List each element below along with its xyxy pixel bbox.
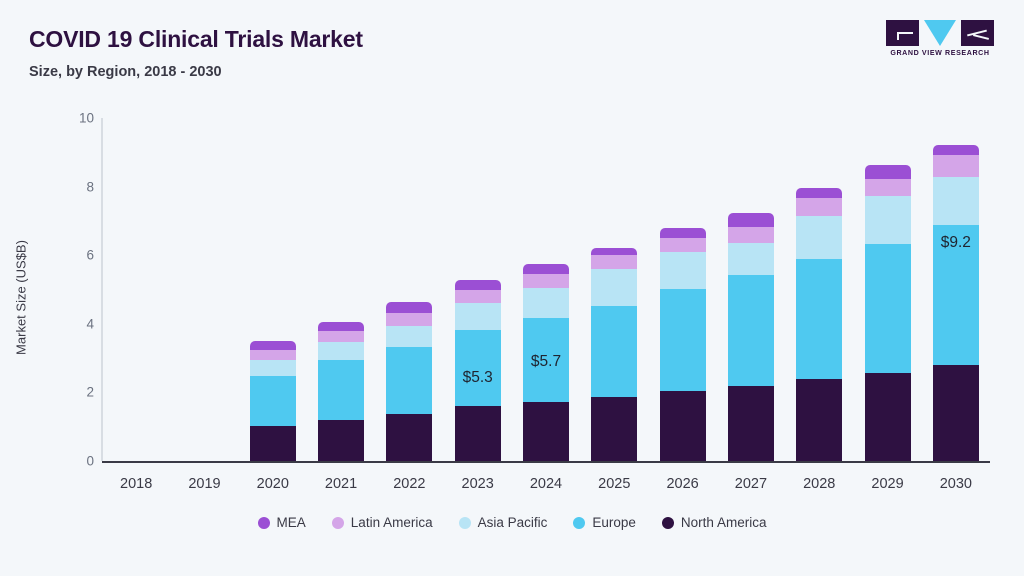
- bar-group[interactable]: [250, 342, 296, 461]
- x-tick-label: 2019: [188, 476, 220, 492]
- grand-view-research-logo: GRAND VIEW RESEARCH: [886, 20, 994, 62]
- legend-swatch-icon: [332, 517, 344, 529]
- x-tick-label: 2024: [530, 476, 562, 492]
- bar-segment-asia-pacific[interactable]: [250, 360, 296, 376]
- bar-group[interactable]: [318, 322, 364, 461]
- y-tick-label: 2: [58, 385, 94, 400]
- bar-segment-north-america[interactable]: [386, 413, 432, 461]
- y-axis-ticks: 0246810: [50, 0, 94, 576]
- logo-notch-d-icon: [973, 34, 989, 40]
- x-tick-label: 2021: [325, 476, 357, 492]
- y-tick-label: 10: [58, 111, 94, 126]
- bar-segment-europe[interactable]: [660, 289, 706, 391]
- bar-segment-latin-america[interactable]: [591, 255, 637, 270]
- bar-value-label: $5.3: [433, 369, 523, 387]
- bar-value-label: $9.2: [911, 234, 1001, 252]
- bar-segment-latin-america[interactable]: [318, 330, 364, 342]
- legend-swatch-icon: [573, 517, 585, 529]
- x-tick-label: 2020: [257, 476, 289, 492]
- x-axis-line: [102, 461, 990, 463]
- bar-segment-north-america[interactable]: [591, 396, 637, 461]
- bar-segment-asia-pacific[interactable]: [660, 252, 706, 290]
- bar-segment-north-america[interactable]: [728, 385, 774, 461]
- bar-segment-north-america[interactable]: [318, 419, 364, 461]
- bar-segment-north-america[interactable]: [796, 378, 842, 461]
- bar-segment-latin-america[interactable]: [728, 226, 774, 242]
- bar-group[interactable]: [386, 303, 432, 461]
- bar-group[interactable]: [865, 166, 911, 461]
- bar-segment-europe[interactable]: [455, 329, 501, 406]
- bar-segment-europe[interactable]: [865, 243, 911, 373]
- bar-segment-latin-america[interactable]: [523, 273, 569, 288]
- logo-notch-b-icon: [897, 32, 899, 40]
- legend-label: MEA: [277, 515, 306, 530]
- x-tick-label: 2022: [393, 476, 425, 492]
- bar-segment-asia-pacific[interactable]: [865, 195, 911, 243]
- bar-segment-asia-pacific[interactable]: [318, 341, 364, 360]
- x-tick-label: 2029: [871, 476, 903, 492]
- bar-segment-latin-america[interactable]: [865, 178, 911, 196]
- bar-segment-mea[interactable]: [591, 248, 637, 255]
- bar-segment-europe[interactable]: [250, 375, 296, 426]
- bar-segment-latin-america[interactable]: [660, 237, 706, 252]
- bar-segment-europe[interactable]: [591, 306, 637, 397]
- bar-segment-north-america[interactable]: [250, 425, 296, 461]
- bar-group[interactable]: [591, 248, 637, 461]
- y-tick-label: 8: [58, 179, 94, 194]
- y-tick-label: 4: [58, 316, 94, 331]
- bar-segment-mea[interactable]: [455, 280, 501, 291]
- x-tick-label: 2026: [666, 476, 698, 492]
- bar-segment-mea[interactable]: [660, 228, 706, 239]
- bar-segment-mea[interactable]: [728, 213, 774, 227]
- bar-group[interactable]: [933, 145, 979, 461]
- bar-segment-europe[interactable]: [796, 258, 842, 379]
- x-tick-label: 2028: [803, 476, 835, 492]
- bar-segment-europe[interactable]: [728, 274, 774, 385]
- bar-segment-north-america[interactable]: [523, 402, 569, 461]
- logo-block-right-icon: [961, 20, 994, 46]
- bar-segment-asia-pacific[interactable]: [386, 325, 432, 347]
- chart-legend: MEALatin AmericaAsia PacificEuropeNorth …: [0, 515, 1024, 530]
- bar-segment-asia-pacific[interactable]: [796, 215, 842, 258]
- bar-segment-asia-pacific[interactable]: [728, 242, 774, 275]
- legend-item[interactable]: Asia Pacific: [459, 515, 548, 530]
- bar-segment-mea[interactable]: [796, 188, 842, 197]
- legend-label: Europe: [592, 515, 636, 530]
- bar-group[interactable]: [660, 228, 706, 461]
- bar-segment-north-america[interactable]: [865, 372, 911, 461]
- bar-segment-north-america[interactable]: [933, 364, 979, 461]
- bar-segment-latin-america[interactable]: [455, 290, 501, 303]
- bar-segment-north-america[interactable]: [660, 390, 706, 461]
- bar-segment-mea[interactable]: [318, 322, 364, 332]
- x-tick-label: 2030: [940, 476, 972, 492]
- y-tick-label: 6: [58, 248, 94, 263]
- plot-area: $5.3$5.7$9.2: [102, 118, 990, 461]
- bar-segment-latin-america[interactable]: [796, 197, 842, 216]
- logo-block-left-icon: [886, 20, 919, 46]
- legend-label: North America: [681, 515, 767, 530]
- logo-notch-a-icon: [897, 32, 913, 34]
- legend-swatch-icon: [258, 517, 270, 529]
- bar-segment-europe[interactable]: [386, 347, 432, 414]
- logo-text: GRAND VIEW RESEARCH: [886, 49, 994, 57]
- bar-segment-latin-america[interactable]: [933, 154, 979, 177]
- bar-segment-north-america[interactable]: [455, 406, 501, 461]
- legend-item[interactable]: Europe: [573, 515, 636, 530]
- bar-value-label: $5.7: [501, 353, 591, 371]
- bar-segment-latin-america[interactable]: [386, 313, 432, 326]
- logo-triangle-icon: [924, 20, 956, 46]
- bar-group[interactable]: [728, 214, 774, 461]
- bar-segment-mea[interactable]: [523, 264, 569, 275]
- x-axis-ticks: 2018201920202021202220232024202520262027…: [102, 476, 990, 498]
- x-tick-label: 2025: [598, 476, 630, 492]
- y-axis-title: Market Size (US$B): [14, 158, 29, 438]
- legend-item[interactable]: Latin America: [332, 515, 433, 530]
- y-tick-label: 0: [58, 454, 94, 469]
- bar-segment-mea[interactable]: [250, 341, 296, 350]
- bar-segment-mea[interactable]: [865, 165, 911, 178]
- bar-segment-asia-pacific[interactable]: [933, 177, 979, 226]
- bar-segment-mea[interactable]: [386, 302, 432, 313]
- x-tick-label: 2018: [120, 476, 152, 492]
- chart-page: COVID 19 Clinical Trials Market Size, by…: [0, 0, 1024, 576]
- bar-segment-latin-america[interactable]: [250, 350, 296, 361]
- legend-label: Latin America: [351, 515, 433, 530]
- legend-item[interactable]: North America: [662, 515, 767, 530]
- legend-label: Asia Pacific: [478, 515, 548, 530]
- legend-swatch-icon: [459, 517, 471, 529]
- legend-item[interactable]: MEA: [258, 515, 306, 530]
- bar-segment-asia-pacific[interactable]: [523, 288, 569, 318]
- logo-mark-icon: [886, 20, 994, 46]
- bar-segment-mea[interactable]: [933, 145, 979, 155]
- legend-swatch-icon: [662, 517, 674, 529]
- x-tick-label: 2023: [462, 476, 494, 492]
- bar-segment-europe[interactable]: [318, 360, 364, 420]
- bar-segment-asia-pacific[interactable]: [455, 302, 501, 330]
- bar-group[interactable]: [796, 189, 842, 461]
- bar-segment-asia-pacific[interactable]: [591, 269, 637, 307]
- x-tick-label: 2027: [735, 476, 767, 492]
